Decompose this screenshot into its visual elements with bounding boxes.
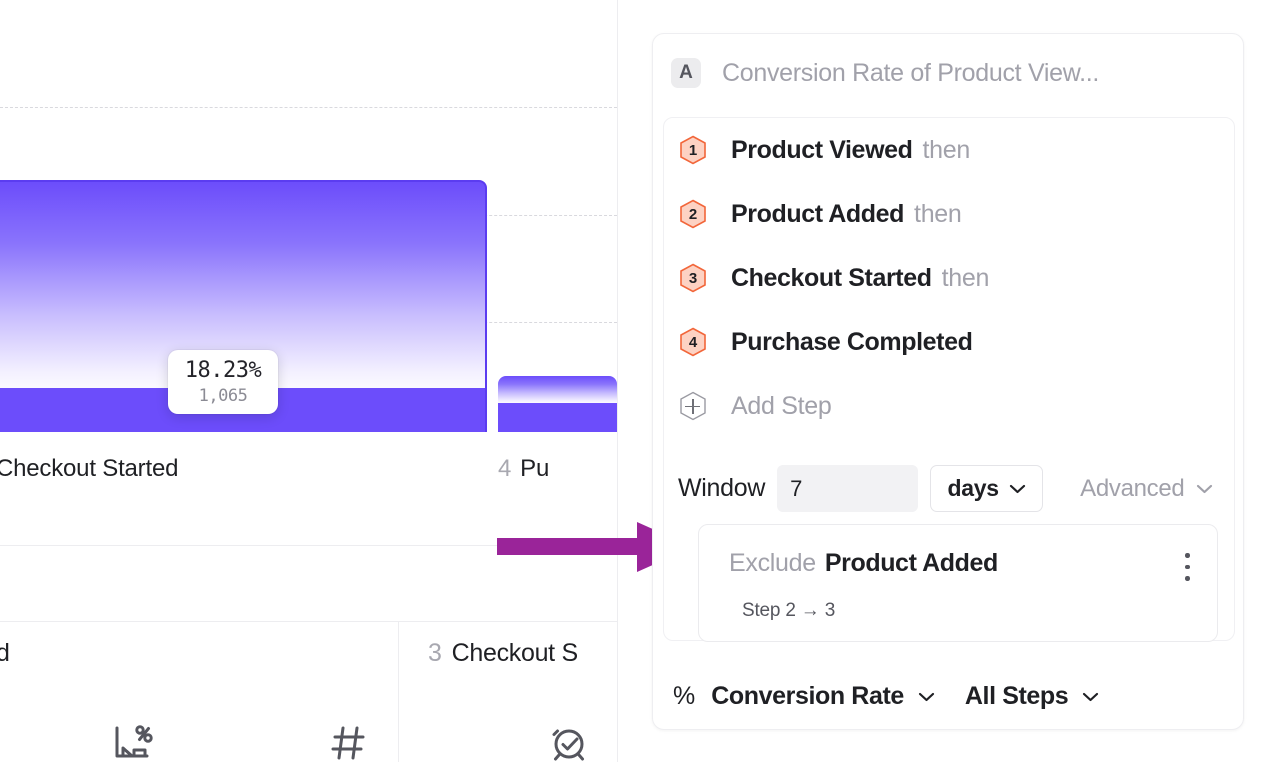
funnel-step-2[interactable]: 2 Product Added then [678, 199, 962, 229]
x-axis-label-checkout-started: Checkout Started [0, 455, 178, 483]
add-step-plus-icon [678, 391, 708, 421]
x-axis-label-text: Pu [520, 455, 549, 482]
step-number: 4 [678, 327, 708, 357]
exclusion-title: Exclude Product Added [729, 549, 998, 578]
step-event-name: Product Viewed [731, 136, 913, 165]
step-event-name: Product Added [731, 200, 904, 229]
metric-card-title-text: Checkout S [452, 639, 578, 667]
x-axis-label-number: 4 [498, 455, 511, 482]
window-label: Window [678, 474, 765, 503]
app-root: 18.23% 1,065 Checkout Started 4Pu d [0, 0, 1264, 762]
metric-card-number: 3 [428, 639, 442, 667]
advanced-label: Advanced [1080, 475, 1184, 503]
metric-type-dropdown[interactable]: Conversion Rate [711, 682, 935, 711]
exclusion-event: Product Added [825, 549, 998, 578]
metric-type-label: Conversion Rate [711, 682, 904, 711]
step-number-hexagon-icon: 4 [678, 327, 708, 357]
advanced-options-dropdown[interactable]: Advanced [1080, 475, 1213, 503]
step-number-hexagon-icon: 1 [678, 135, 708, 165]
series-letter-badge: A [671, 58, 701, 88]
step-number: 3 [678, 263, 708, 293]
funnel-step-1[interactable]: 1 Product Viewed then [678, 135, 970, 165]
window-value-input[interactable] [777, 465, 918, 512]
time-to-convert-icon [545, 719, 593, 762]
step-number: 1 [678, 135, 708, 165]
conversion-rate-icon [107, 719, 155, 762]
step-number-hexagon-icon: 2 [678, 199, 708, 229]
conversion-window-row: Window days Advanced [678, 465, 1213, 512]
panel-title[interactable]: Conversion Rate of Product View... [722, 59, 1099, 88]
funnel-plot-area [0, 0, 617, 440]
exclusion-step-range: Step 2 → 3 [742, 600, 835, 622]
tooltip-percent: 18.23% [185, 358, 261, 383]
panel-bottom-bar: % Conversion Rate All Steps [673, 682, 1099, 711]
x-axis-labels: Checkout Started 4Pu [0, 455, 617, 495]
step-event-name: Purchase Completed [731, 328, 972, 357]
step-number: 2 [678, 199, 708, 229]
funnel-config-panel: A Conversion Rate of Product View... 1 P… [652, 33, 1244, 730]
step-scope-dropdown[interactable]: All Steps [965, 682, 1099, 711]
funnel-step-4[interactable]: 4 Purchase Completed [678, 327, 982, 357]
funnel-steps-container: 1 Product Viewed then 2 Product Added th… [663, 117, 1235, 641]
chevron-down-icon [1196, 484, 1213, 494]
tooltip-count: 1,065 [199, 386, 248, 406]
funnel-bar-purchase-completed[interactable] [498, 376, 617, 432]
window-unit-label: days [948, 475, 999, 502]
exclusion-card[interactable]: Exclude Product Added Step 2 → 3 [698, 524, 1218, 642]
metric-card-time-to-convert[interactable]: 3Checkout S [399, 621, 617, 762]
chart-tooltip: 18.23% 1,065 [168, 350, 278, 414]
panel-header: A Conversion Rate of Product View... [653, 34, 1243, 112]
add-step-button[interactable]: Add Step [678, 391, 831, 421]
step-event-name: Checkout Started [731, 264, 932, 293]
exclusion-verb: Exclude [729, 549, 816, 578]
step-connector: then [942, 264, 989, 293]
x-axis-label-text: Checkout Started [0, 455, 178, 482]
step-scope-label: All Steps [965, 682, 1068, 711]
chevron-down-icon [1082, 692, 1099, 702]
step-number-hexagon-icon: 3 [678, 263, 708, 293]
funnel-step-3[interactable]: 3 Checkout Started then [678, 263, 989, 293]
metric-card-title: 3Checkout S [428, 639, 578, 668]
count-hash-icon [324, 719, 372, 762]
percent-icon: % [673, 682, 695, 711]
chevron-down-icon [918, 692, 935, 702]
panel-divider [617, 0, 618, 762]
chevron-down-icon [1009, 484, 1026, 494]
metric-card-title: d [0, 639, 10, 668]
step-connector: then [923, 136, 970, 165]
metric-card-title-text: d [0, 639, 10, 667]
add-step-label: Add Step [731, 392, 831, 421]
x-axis-label-purchase-completed: 4Pu [498, 455, 549, 483]
gridline [0, 107, 617, 108]
funnel-bar-gradient [498, 376, 617, 403]
funnel-bar-base [498, 403, 617, 432]
more-options-icon[interactable] [1185, 553, 1191, 583]
step-connector: then [914, 200, 961, 229]
window-unit-dropdown[interactable]: days [930, 465, 1043, 512]
